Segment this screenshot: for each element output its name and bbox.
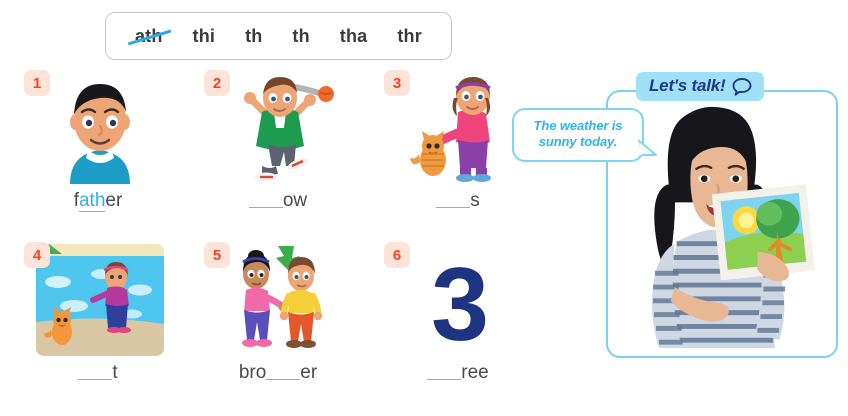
- boy-throwing-ball-image: [216, 72, 344, 184]
- item-word-3: s: [378, 190, 538, 212]
- word-prefix: bro: [239, 362, 266, 383]
- exercise-item-1: 1 father: [18, 68, 178, 234]
- girl-and-cat-far-scene-image: [36, 244, 164, 356]
- word-suffix: er: [300, 362, 317, 383]
- svg-text:3: 3: [431, 247, 489, 356]
- exercise-item-4: 4: [18, 240, 178, 406]
- word-bank-item-4[interactable]: tha: [337, 26, 371, 47]
- father-portrait-image: [36, 72, 164, 184]
- answer-blank[interactable]: [249, 207, 283, 208]
- item-word-1: father: [18, 190, 178, 212]
- item-number-badge: 6: [384, 242, 410, 268]
- word-answer-highlight: ath: [79, 190, 105, 212]
- word-bank-item-2[interactable]: th: [242, 26, 265, 47]
- item-word-4: t: [18, 362, 178, 384]
- word-bank-item-3[interactable]: th: [289, 26, 312, 47]
- word-bank: ath thi th th tha thr: [105, 12, 452, 60]
- item-number-badge: 3: [384, 70, 410, 96]
- item-number-badge: 1: [24, 70, 50, 96]
- numeral-three-image: 3: [396, 244, 524, 356]
- word-bank-item-1[interactable]: thi: [190, 26, 219, 47]
- answer-blank[interactable]: [78, 379, 112, 380]
- word-suffix: er: [105, 190, 122, 211]
- exercise-item-5: 5: [198, 240, 358, 406]
- speech-bubble-text: The weather is sunny today.: [524, 118, 632, 151]
- word-suffix: t: [112, 362, 117, 383]
- answer-blank[interactable]: [436, 207, 470, 208]
- item-word-2: ow: [198, 190, 358, 212]
- answer-blank[interactable]: [266, 379, 300, 380]
- speech-bubble: The weather is sunny today.: [512, 108, 644, 162]
- word-suffix: ow: [283, 190, 307, 211]
- girl-petting-cat-image: [396, 72, 524, 184]
- girl-pointing-at-boy-image: [216, 244, 344, 356]
- word-suffix: ree: [461, 362, 488, 383]
- item-word-6: ree: [378, 362, 538, 384]
- item-number-badge: 5: [204, 242, 230, 268]
- speech-bubble-tail: [638, 138, 658, 158]
- item-number-badge: 2: [204, 70, 230, 96]
- word-suffix: s: [470, 190, 480, 211]
- word-bank-item-0[interactable]: ath: [132, 26, 166, 47]
- item-number-badge: 4: [24, 242, 50, 268]
- exercise-grid: 1 father 2: [18, 68, 498, 404]
- lets-talk-label: Let's talk!: [649, 76, 725, 96]
- answer-blank[interactable]: [427, 379, 461, 380]
- item-word-5: broer: [198, 362, 358, 384]
- exercise-item-2: 2: [198, 68, 358, 234]
- speech-bubble-icon: [732, 77, 752, 96]
- lets-talk-badge: Let's talk!: [636, 72, 764, 101]
- exercise-item-6: 6 3 ree: [378, 240, 538, 406]
- word-bank-item-5[interactable]: thr: [394, 26, 425, 47]
